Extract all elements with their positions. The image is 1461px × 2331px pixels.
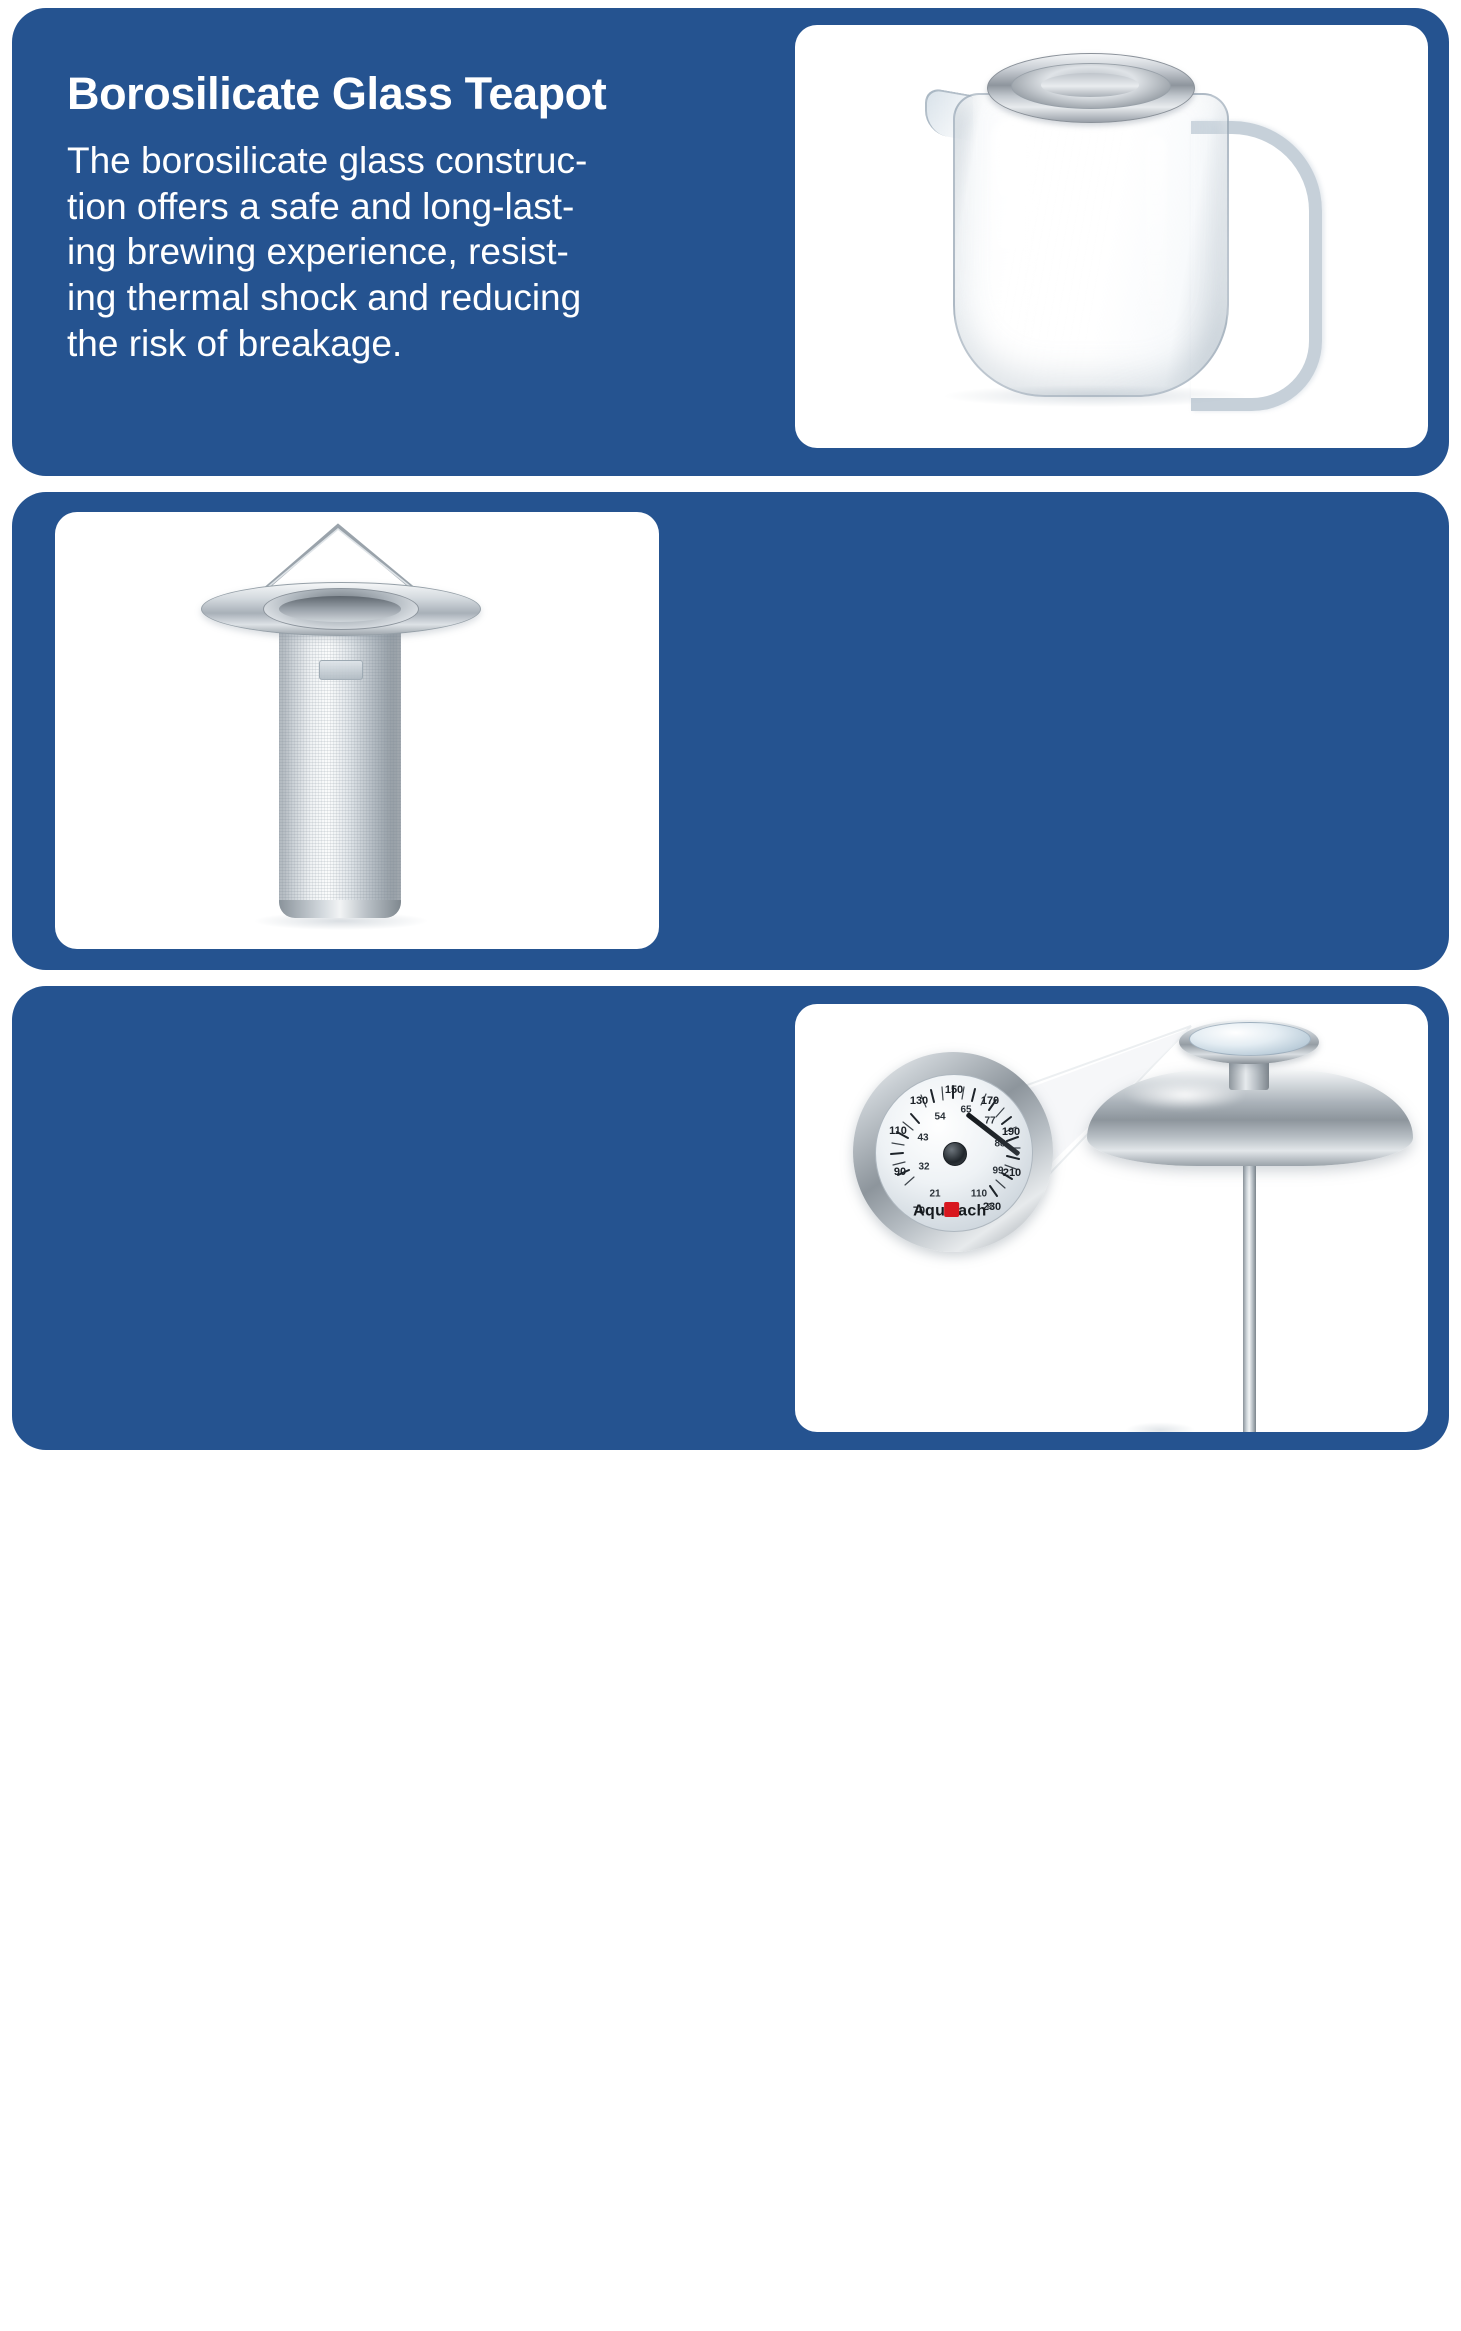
dial-label-f-150: 150 bbox=[945, 1084, 963, 1096]
thermometer-probe-stem bbox=[1243, 1154, 1256, 1432]
teapot-illustration bbox=[795, 25, 1428, 448]
dial-label-f-90: 90 bbox=[894, 1166, 906, 1178]
teapot-highlight-right bbox=[1145, 135, 1167, 335]
dial-label-f-190: 190 bbox=[1002, 1126, 1020, 1138]
brand-registered-mark: ® bbox=[987, 1202, 993, 1211]
feature-panel-stainless-steel-filter: Stainless Steel Filter The removable sta… bbox=[12, 492, 1449, 970]
product-image-card-lid: 70 90 110 130 150 170 190 210 230 21 32 … bbox=[795, 1004, 1428, 1432]
teapot-highlight-left bbox=[991, 117, 1035, 347]
dial-label-c-99: 99 bbox=[992, 1166, 1003, 1177]
brand-mark-icon bbox=[944, 1202, 959, 1217]
thermometer-brand-logo: Aquach® bbox=[913, 1202, 993, 1220]
feature-panel-borosilicate-glass-teapot: Borosilicate Glass Teapot The borosilica… bbox=[12, 8, 1449, 476]
dial-label-f-110: 110 bbox=[889, 1125, 907, 1137]
dial-label-f-170: 170 bbox=[981, 1095, 999, 1107]
dial-label-c-43: 43 bbox=[917, 1133, 928, 1144]
lid-thermometer-illustration: 70 90 110 130 150 170 190 210 230 21 32 … bbox=[795, 1004, 1428, 1432]
feature-heading-1: Borosilicate Glass Teapot bbox=[67, 70, 757, 118]
feature-text-block-1: Borosilicate Glass Teapot The borosilica… bbox=[67, 70, 757, 367]
feature-body-3: The lid's integrated thermome- ter ensur… bbox=[67, 2102, 757, 2331]
brand-suffix: ach bbox=[958, 1202, 986, 1219]
product-image-card-teapot bbox=[795, 25, 1428, 448]
lid-gauge-glass bbox=[1189, 1022, 1311, 1056]
filter-mouth-inner bbox=[279, 596, 401, 622]
product-image-card-filter bbox=[55, 512, 659, 949]
feature-text-block-3: Lid with Thermometer The lid's integrate… bbox=[67, 2034, 757, 2331]
feature-body-1: The borosilicate glass construc- tion of… bbox=[67, 138, 757, 367]
brand-prefix: Aqu bbox=[913, 1202, 945, 1219]
dial-label-c-110: 110 bbox=[971, 1189, 987, 1200]
dial-label-f-130: 130 bbox=[910, 1095, 928, 1107]
lid-dome-highlight bbox=[1125, 1080, 1245, 1110]
dial-label-c-54: 54 bbox=[934, 1112, 945, 1123]
dial-label-c-32: 32 bbox=[918, 1162, 929, 1173]
filter-illustration bbox=[55, 512, 659, 949]
thermometer-needle-hub bbox=[943, 1142, 967, 1166]
dial-label-f-210: 210 bbox=[1003, 1167, 1021, 1179]
lid-shadow bbox=[1125, 1422, 1195, 1432]
feature-heading-3: Lid with Thermometer bbox=[67, 2034, 757, 2082]
teapot-lid-center bbox=[1041, 73, 1139, 97]
filter-tube-base bbox=[279, 900, 401, 918]
product-feature-infographic: Borosilicate Glass Teapot The borosilica… bbox=[0, 0, 1461, 1458]
feature-panel-lid-with-thermometer: Lid with Thermometer The lid's integrate… bbox=[12, 986, 1449, 1450]
dial-label-c-21: 21 bbox=[929, 1189, 940, 1200]
filter-brand-badge bbox=[319, 660, 363, 680]
